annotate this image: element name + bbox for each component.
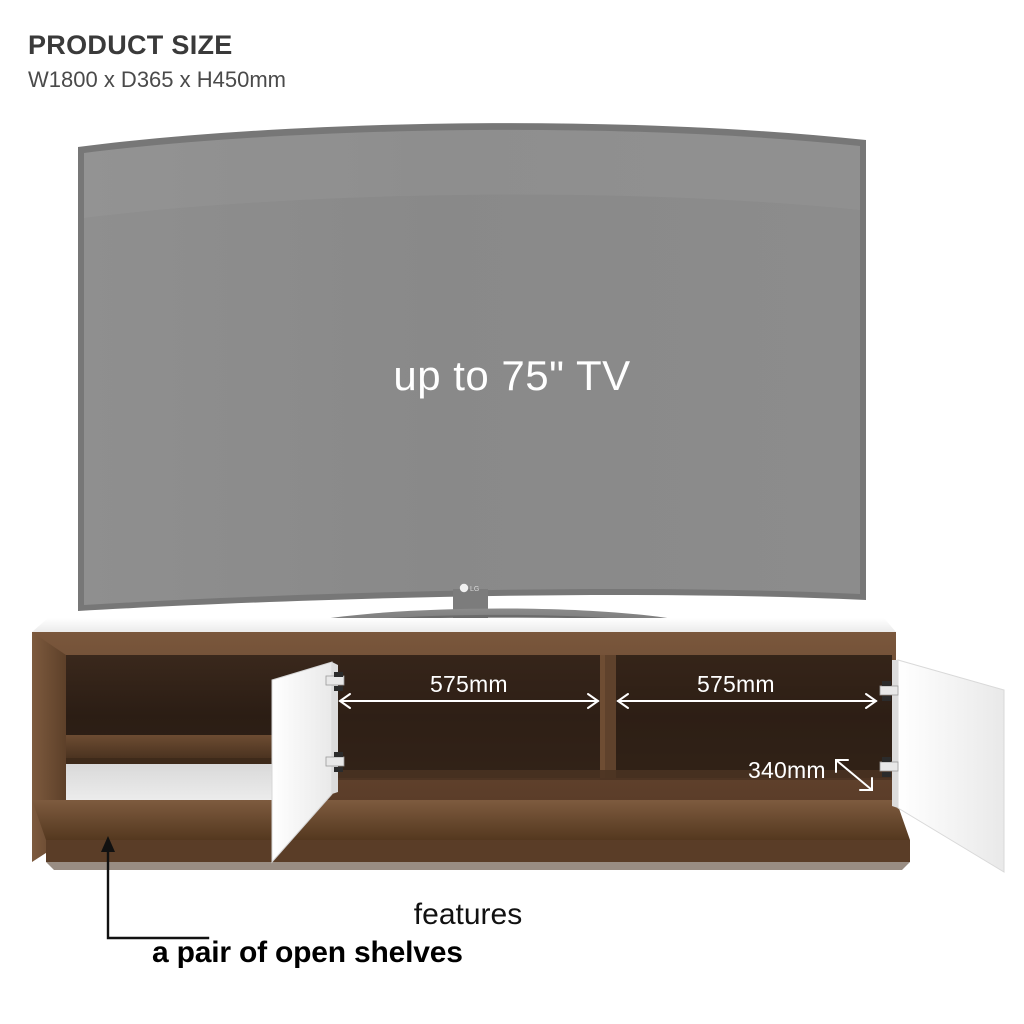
cabinet-top-surface	[32, 618, 896, 632]
feature-callout: features a pair of open shelves	[152, 898, 672, 969]
cabinet-bottom-underside	[46, 862, 910, 870]
svg-text:LG: LG	[470, 586, 479, 593]
cabinet-bottom-panel	[32, 800, 910, 840]
lg-logo-icon: LG	[460, 584, 480, 593]
dimension-label-door-depth: 340mm	[748, 757, 826, 784]
feature-callout-line-2: a pair of open shelves	[152, 936, 672, 970]
right-door-edge	[892, 660, 898, 808]
feature-callout-line-1: features	[152, 898, 672, 932]
open-shelf-deck-front	[66, 758, 280, 764]
television: LG	[78, 123, 866, 634]
open-shelf-deck	[66, 735, 280, 758]
dimension-label-left-compartment: 575mm	[430, 671, 508, 698]
dimension-label-right-compartment: 575mm	[697, 671, 775, 698]
tv-cabinet	[32, 618, 1004, 872]
cabinet-bottom-front-edge	[46, 840, 910, 862]
product-illustration: LG	[0, 0, 1024, 1024]
right-door-panel[interactable]	[898, 660, 1004, 872]
product-diagram: PRODUCT SIZE W1800 x D365 x H450mm	[0, 0, 1024, 1024]
center-divider-highlight	[600, 655, 605, 778]
